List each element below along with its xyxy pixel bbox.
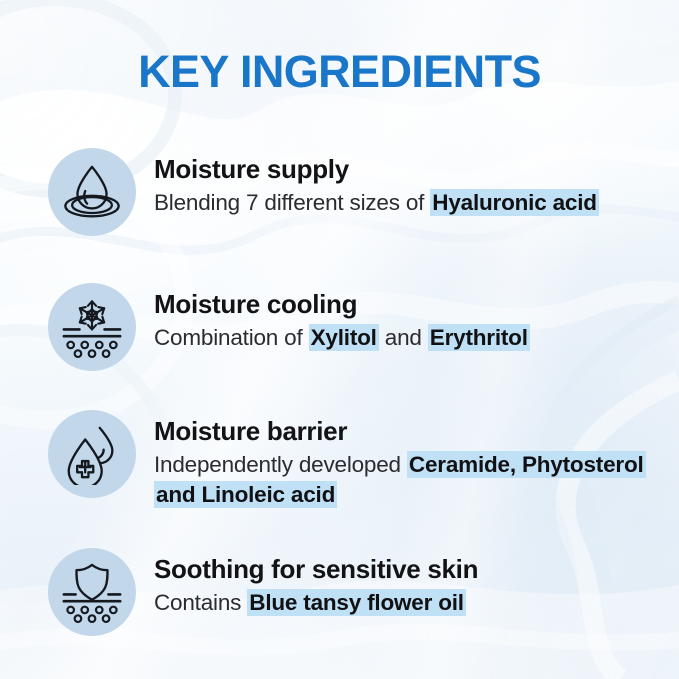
ingredient-title: Moisture barrier xyxy=(154,417,655,446)
ingredient-item-moisture-barrier: Moisture barrier Independently developed… xyxy=(48,410,655,509)
description-text: Independently developed xyxy=(154,452,407,477)
page-title: KEY INGREDIENTS xyxy=(0,48,679,95)
highlighted-ingredient: Blue tansy flower oil xyxy=(247,589,466,616)
ingredient-text: Soothing for sensitive skin Contains Blu… xyxy=(154,548,478,618)
ingredient-item-soothing: Soothing for sensitive skin Contains Blu… xyxy=(48,548,655,636)
description-text: Contains xyxy=(154,590,247,615)
ingredient-description: Blending 7 different sizes of Hyaluronic… xyxy=(154,188,599,218)
description-text: Combination of xyxy=(154,325,309,350)
icon-badge xyxy=(48,148,136,236)
ingredient-item-moisture-cooling: Moisture cooling Combination of Xylitol … xyxy=(48,283,655,371)
infographic-content: KEY INGREDIENTS Moisture supply xyxy=(0,0,679,679)
icon-badge xyxy=(48,548,136,636)
ingredient-title: Moisture supply xyxy=(154,155,599,184)
ingredient-text: Moisture supply Blending 7 different siz… xyxy=(154,148,599,218)
ingredient-text: Moisture cooling Combination of Xylitol … xyxy=(154,283,530,353)
ingredient-description: Contains Blue tansy flower oil xyxy=(154,588,478,618)
icon-badge xyxy=(48,410,136,498)
ingredient-description: Independently developed Ceramide, Phytos… xyxy=(154,450,655,509)
snowflake-skin-cooling-icon xyxy=(61,296,123,358)
water-drop-ripple-icon xyxy=(61,161,123,223)
highlighted-ingredient: Erythritol xyxy=(428,324,530,351)
highlighted-ingredient: Hyaluronic acid xyxy=(430,189,599,216)
ingredient-title: Soothing for sensitive skin xyxy=(154,555,478,584)
icon-badge xyxy=(48,283,136,371)
highlighted-ingredient: Xylitol xyxy=(309,324,379,351)
ingredient-item-moisture-supply: Moisture supply Blending 7 different siz… xyxy=(48,148,655,236)
ingredient-title: Moisture cooling xyxy=(154,290,530,319)
description-text: Blending 7 different sizes of xyxy=(154,190,430,215)
shield-skin-protection-icon xyxy=(61,561,123,623)
two-droplets-plus-icon xyxy=(61,423,123,485)
ingredient-text: Moisture barrier Independently developed… xyxy=(154,410,655,509)
description-text: and xyxy=(379,325,428,350)
key-ingredients-infographic: KEY INGREDIENTS Moisture supply xyxy=(0,0,679,679)
ingredient-description: Combination of Xylitol and Erythritol xyxy=(154,323,530,353)
